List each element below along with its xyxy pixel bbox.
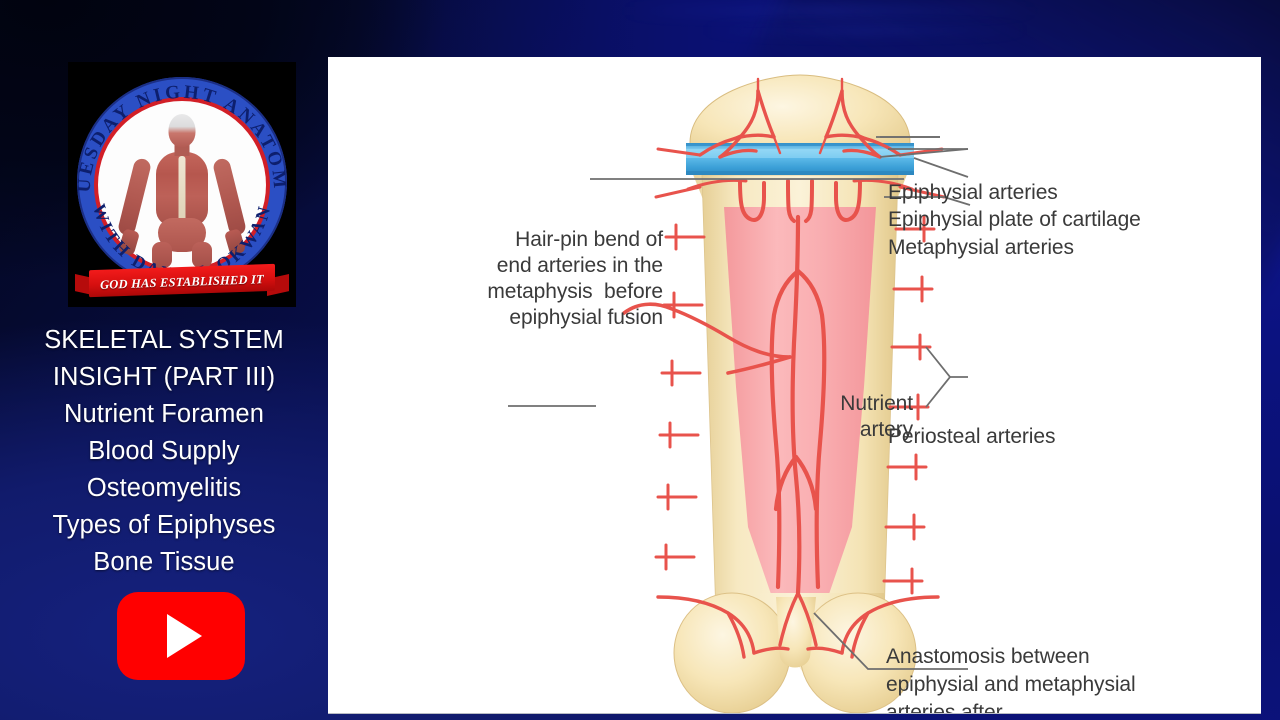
channel-logo[interactable]: TUESDAY NIGHT ANATOMY WITH DANIEL OKWAN … xyxy=(68,62,296,307)
youtube-play-button[interactable] xyxy=(117,592,245,680)
slide-canvas: TUESDAY NIGHT ANATOMY WITH DANIEL OKWAN … xyxy=(0,0,1280,720)
logo-banner-text: GOD HAS ESTABLISHED IT xyxy=(75,258,289,305)
periosteal-left xyxy=(656,225,704,569)
topic-line-1: SKELETAL SYSTEM xyxy=(0,322,328,359)
topic-line-5: Osteomyelitis xyxy=(0,470,328,507)
bone-illustration xyxy=(328,57,1261,713)
svg-text:TUESDAY NIGHT ANATOMY: TUESDAY NIGHT ANATOMY xyxy=(68,62,291,193)
label-hairpin-bend: Hair-pin bend ofend arteries in themetap… xyxy=(487,227,663,331)
logo-arc-top-label: TUESDAY NIGHT ANATOMY xyxy=(68,62,291,193)
leader-periosteal-bracket xyxy=(926,347,950,407)
long-bone-blood-supply-diagram xyxy=(328,57,1261,713)
topic-line-2: INSIGHT (PART III) xyxy=(0,359,328,396)
topic-line-7: Bone Tissue xyxy=(0,544,328,581)
topic-line-3: Nutrient Foramen xyxy=(0,396,328,433)
label-periosteal-arteries: Periosteal arteries xyxy=(888,424,1055,450)
topic-line-4: Blood Supply xyxy=(0,433,328,470)
slide-topic-list: SKELETAL SYSTEM INSIGHT (PART III) Nutri… xyxy=(0,322,328,581)
leader-epiphysial-plate xyxy=(914,158,968,177)
label-metaphysial-arteries: Metaphysial arteries xyxy=(888,235,1074,261)
topic-line-6: Types of Epiphyses xyxy=(0,507,328,544)
label-anastomosis: Anastomosis betweenepiphysial and metaph… xyxy=(886,643,1136,714)
label-epiphysial-arteries: Epiphysial arteries xyxy=(888,180,1058,206)
diagram-panel: Hair-pin bend ofend arteries in themetap… xyxy=(328,57,1261,714)
play-icon xyxy=(167,614,202,658)
logo-banner: GOD HAS ESTABLISHED IT xyxy=(75,261,289,301)
label-epiphysial-plate: Epiphysial plate of cartilage xyxy=(888,207,1141,233)
sidebar: TUESDAY NIGHT ANATOMY WITH DANIEL OKWAN … xyxy=(0,0,328,720)
